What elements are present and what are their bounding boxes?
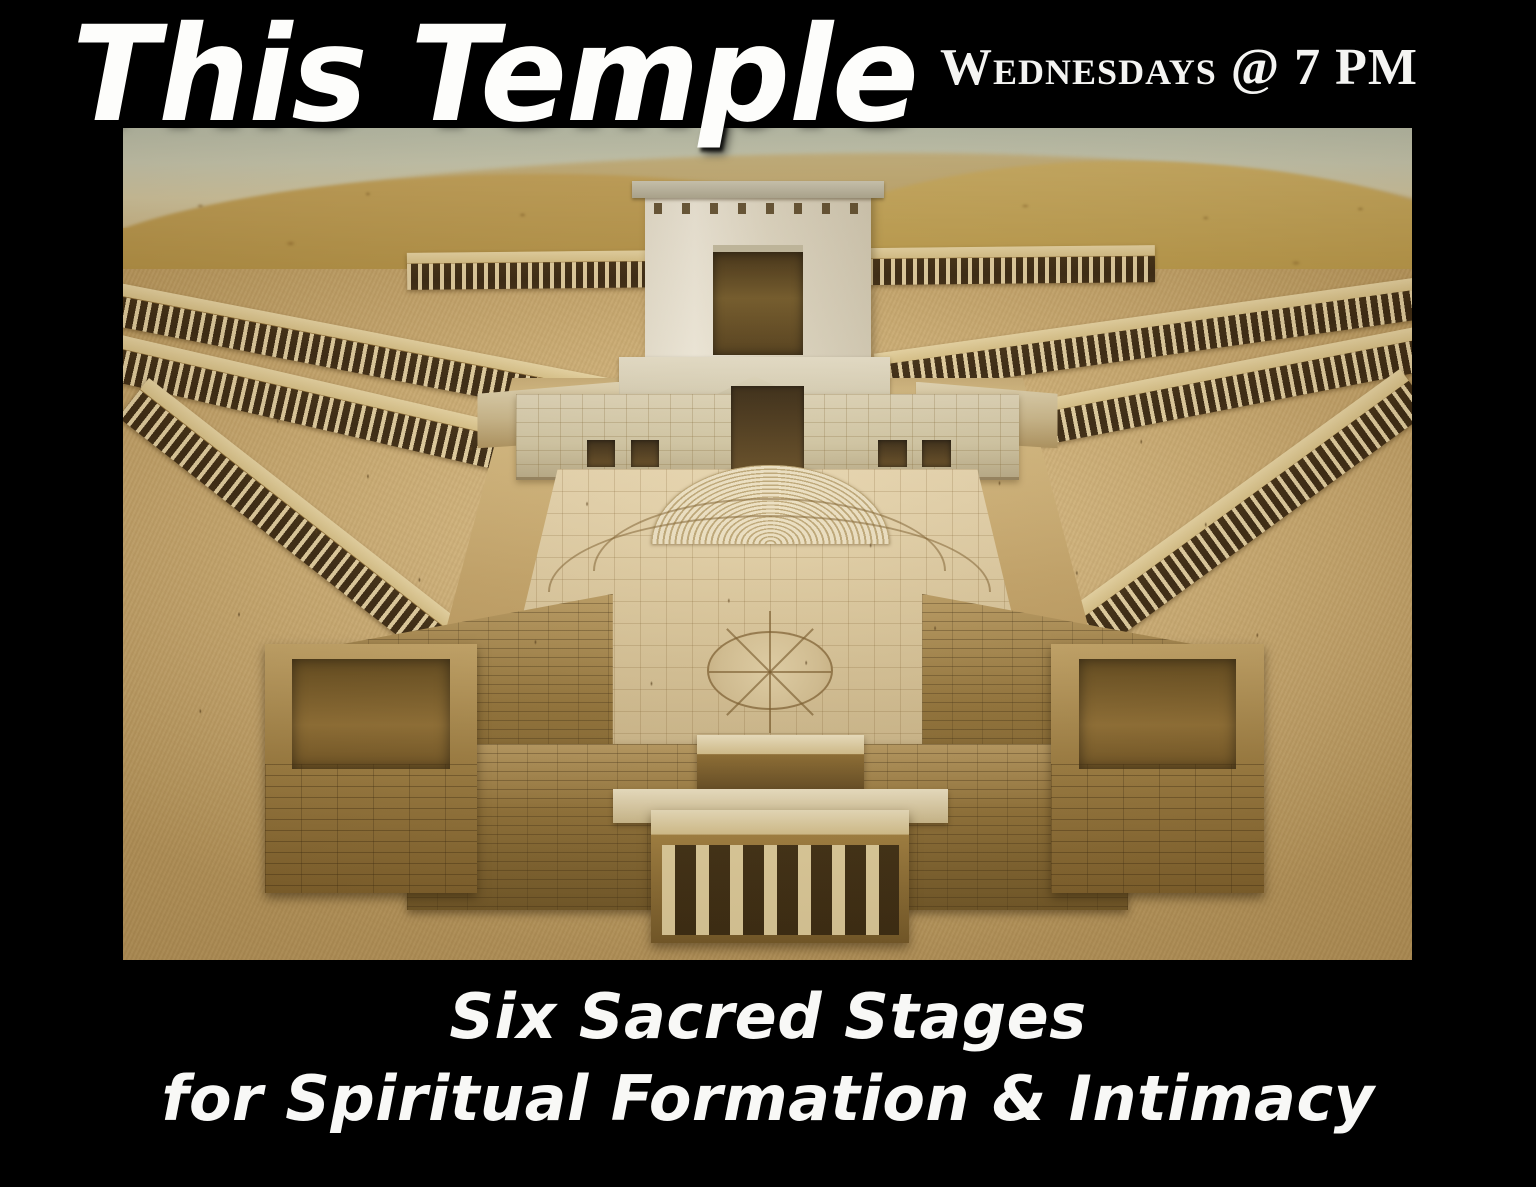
subtitle-line-1: Six Sacred Stages	[0, 980, 1536, 1053]
promotional-slide: This Temple Wednesdays @ 7 PM Six Sacred…	[0, 0, 1536, 1187]
sanctuary-cornice	[632, 181, 885, 197]
schedule-text: Wednesdays @ 7 PM	[940, 38, 1418, 97]
subtitle-block: Six Sacred Stages for Spiritual Formatio…	[0, 980, 1536, 1137]
second-temple-model-photo	[123, 128, 1412, 960]
pilgrim-figures	[123, 269, 1412, 960]
page-title: This Temple	[72, 6, 918, 145]
subtitle-line-2: for Spiritual Formation & Intimacy	[0, 1061, 1536, 1137]
sanctuary-corbels	[654, 203, 862, 214]
